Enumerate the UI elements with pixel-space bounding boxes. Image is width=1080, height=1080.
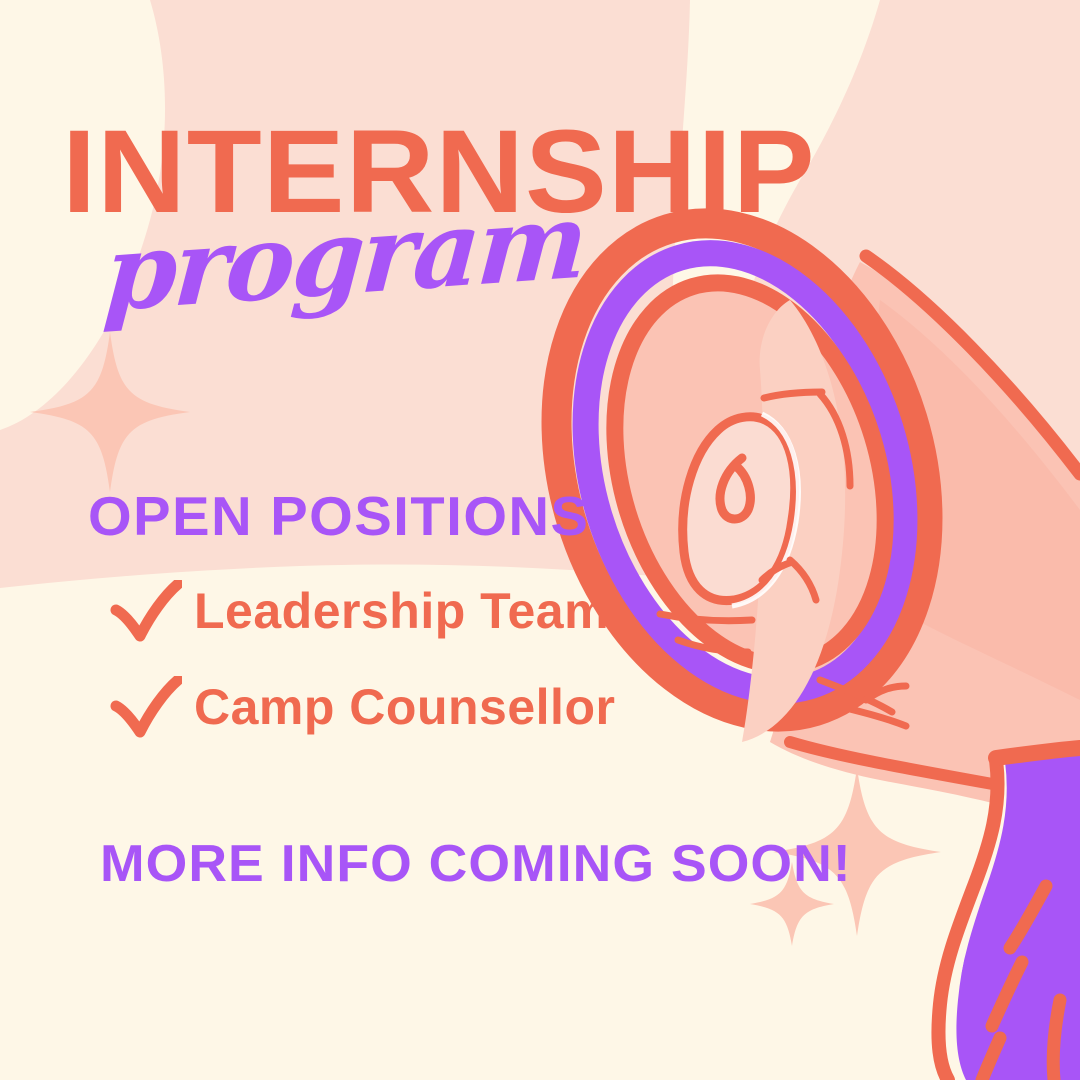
list-item-label: Leadership Team <box>194 582 609 640</box>
check-icon <box>110 580 182 642</box>
check-icon <box>110 676 182 738</box>
list-item-label: Camp Counsellor <box>194 678 615 736</box>
coming-soon-note: MORE INFO COMING SOON! <box>100 834 852 894</box>
poster-canvas: INTERNSHIP program OPEN POSITIONS Leader… <box>0 0 1080 1080</box>
open-positions-heading: OPEN POSITIONS <box>88 484 589 548</box>
list-item: Camp Counsellor <box>110 676 615 738</box>
megaphone-handle-collar <box>996 748 1080 758</box>
list-item: Leadership Team <box>110 580 609 642</box>
